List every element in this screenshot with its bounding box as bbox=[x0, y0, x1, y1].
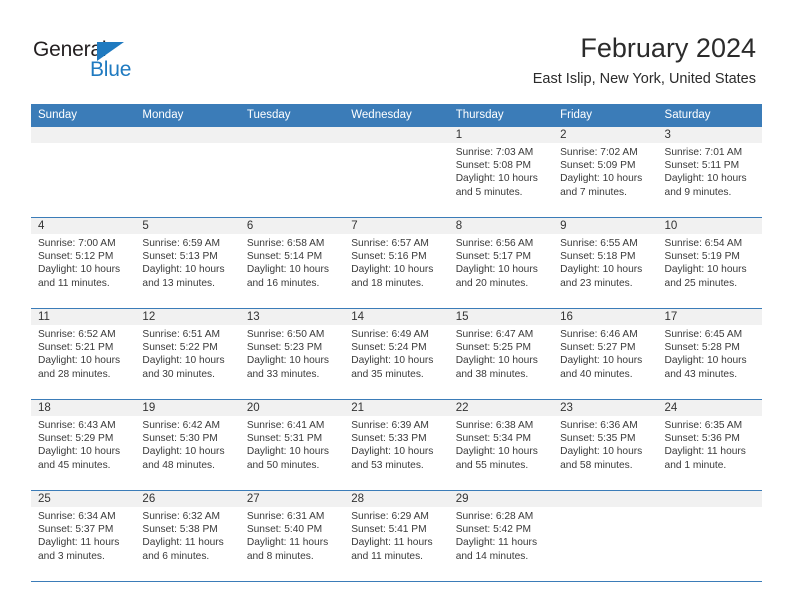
daylight-duration-line1: Daylight: 10 hours bbox=[560, 445, 651, 458]
day-cell-inner: 4Sunrise: 7:00 AMSunset: 5:12 PMDaylight… bbox=[31, 218, 135, 308]
sunrise-time: Sunrise: 6:29 AM bbox=[351, 510, 442, 523]
day-number: 1 bbox=[449, 127, 553, 143]
daylight-duration-line1: Daylight: 10 hours bbox=[247, 354, 338, 367]
day-number: 11 bbox=[31, 309, 135, 325]
day-number bbox=[553, 491, 657, 507]
sunset-time: Sunset: 5:28 PM bbox=[665, 341, 756, 354]
daylight-duration-line1: Daylight: 10 hours bbox=[351, 445, 442, 458]
daylight-duration-line2: and 6 minutes. bbox=[142, 550, 233, 563]
daylight-duration-line2: and 28 minutes. bbox=[38, 368, 129, 381]
day-cell-inner: 24Sunrise: 6:35 AMSunset: 5:36 PMDayligh… bbox=[658, 400, 762, 490]
day-cell-inner bbox=[658, 491, 762, 581]
daylight-duration-line1: Daylight: 11 hours bbox=[456, 536, 547, 549]
daylight-duration-line1: Daylight: 11 hours bbox=[247, 536, 338, 549]
sunrise-time: Sunrise: 6:36 AM bbox=[560, 419, 651, 432]
daylight-duration-line2: and 11 minutes. bbox=[351, 550, 442, 563]
calendar-week-row: 1Sunrise: 7:03 AMSunset: 5:08 PMDaylight… bbox=[31, 127, 762, 218]
calendar-day-cell[interactable]: 1Sunrise: 7:03 AMSunset: 5:08 PMDaylight… bbox=[449, 127, 553, 218]
calendar-day-cell[interactable]: 19Sunrise: 6:42 AMSunset: 5:30 PMDayligh… bbox=[135, 400, 239, 491]
day-cell-inner: 12Sunrise: 6:51 AMSunset: 5:22 PMDayligh… bbox=[135, 309, 239, 399]
daylight-duration-line2: and 35 minutes. bbox=[351, 368, 442, 381]
calendar-day-cell[interactable]: 29Sunrise: 6:28 AMSunset: 5:42 PMDayligh… bbox=[449, 491, 553, 582]
day-cell-details: Sunrise: 6:50 AMSunset: 5:23 PMDaylight:… bbox=[240, 325, 344, 381]
sunrise-time: Sunrise: 6:31 AM bbox=[247, 510, 338, 523]
day-number: 23 bbox=[553, 400, 657, 416]
day-number bbox=[240, 127, 344, 143]
day-cell-inner bbox=[31, 127, 135, 217]
calendar-cell-empty bbox=[240, 127, 344, 218]
day-cell-inner: 15Sunrise: 6:47 AMSunset: 5:25 PMDayligh… bbox=[449, 309, 553, 399]
day-cell-details: Sunrise: 6:39 AMSunset: 5:33 PMDaylight:… bbox=[344, 416, 448, 472]
day-number: 12 bbox=[135, 309, 239, 325]
day-cell-inner: 1Sunrise: 7:03 AMSunset: 5:08 PMDaylight… bbox=[449, 127, 553, 217]
title-block: February 2024 East Islip, New York, Unit… bbox=[533, 33, 756, 89]
calendar-week-row: 18Sunrise: 6:43 AMSunset: 5:29 PMDayligh… bbox=[31, 400, 762, 491]
sunrise-time: Sunrise: 6:51 AM bbox=[142, 328, 233, 341]
day-cell-details: Sunrise: 6:59 AMSunset: 5:13 PMDaylight:… bbox=[135, 234, 239, 290]
daylight-duration-line1: Daylight: 10 hours bbox=[560, 354, 651, 367]
day-cell-details: Sunrise: 7:00 AMSunset: 5:12 PMDaylight:… bbox=[31, 234, 135, 290]
calendar-day-cell[interactable]: 24Sunrise: 6:35 AMSunset: 5:36 PMDayligh… bbox=[658, 400, 762, 491]
day-cell-details: Sunrise: 6:28 AMSunset: 5:42 PMDaylight:… bbox=[449, 507, 553, 563]
day-cell-inner: 16Sunrise: 6:46 AMSunset: 5:27 PMDayligh… bbox=[553, 309, 657, 399]
calendar-day-cell[interactable]: 3Sunrise: 7:01 AMSunset: 5:11 PMDaylight… bbox=[658, 127, 762, 218]
sunset-time: Sunset: 5:17 PM bbox=[456, 250, 547, 263]
sunrise-time: Sunrise: 6:57 AM bbox=[351, 237, 442, 250]
daylight-duration-line2: and 13 minutes. bbox=[142, 277, 233, 290]
day-number: 5 bbox=[135, 218, 239, 234]
weekday-header-saturday: Saturday bbox=[658, 104, 762, 127]
daylight-duration-line2: and 30 minutes. bbox=[142, 368, 233, 381]
calendar-day-cell[interactable]: 16Sunrise: 6:46 AMSunset: 5:27 PMDayligh… bbox=[553, 309, 657, 400]
calendar-day-cell[interactable]: 5Sunrise: 6:59 AMSunset: 5:13 PMDaylight… bbox=[135, 218, 239, 309]
daylight-duration-line1: Daylight: 10 hours bbox=[351, 263, 442, 276]
day-cell-inner: 11Sunrise: 6:52 AMSunset: 5:21 PMDayligh… bbox=[31, 309, 135, 399]
day-number: 4 bbox=[31, 218, 135, 234]
day-cell-inner: 27Sunrise: 6:31 AMSunset: 5:40 PMDayligh… bbox=[240, 491, 344, 581]
day-number: 9 bbox=[553, 218, 657, 234]
sunrise-time: Sunrise: 6:34 AM bbox=[38, 510, 129, 523]
sunrise-time: Sunrise: 6:35 AM bbox=[665, 419, 756, 432]
day-number: 22 bbox=[449, 400, 553, 416]
daylight-duration-line2: and 45 minutes. bbox=[38, 459, 129, 472]
calendar-day-cell[interactable]: 7Sunrise: 6:57 AMSunset: 5:16 PMDaylight… bbox=[344, 218, 448, 309]
day-cell-details: Sunrise: 6:41 AMSunset: 5:31 PMDaylight:… bbox=[240, 416, 344, 472]
daylight-duration-line2: and 14 minutes. bbox=[456, 550, 547, 563]
day-number: 2 bbox=[553, 127, 657, 143]
daylight-duration-line1: Daylight: 10 hours bbox=[38, 445, 129, 458]
daylight-duration-line2: and 33 minutes. bbox=[247, 368, 338, 381]
day-cell-details: Sunrise: 7:01 AMSunset: 5:11 PMDaylight:… bbox=[658, 143, 762, 199]
day-cell-details: Sunrise: 6:49 AMSunset: 5:24 PMDaylight:… bbox=[344, 325, 448, 381]
day-number bbox=[31, 127, 135, 143]
daylight-duration-line1: Daylight: 10 hours bbox=[456, 263, 547, 276]
calendar-day-cell[interactable]: 18Sunrise: 6:43 AMSunset: 5:29 PMDayligh… bbox=[31, 400, 135, 491]
day-cell-inner: 22Sunrise: 6:38 AMSunset: 5:34 PMDayligh… bbox=[449, 400, 553, 490]
calendar-body: 1Sunrise: 7:03 AMSunset: 5:08 PMDaylight… bbox=[31, 127, 762, 582]
calendar-day-cell[interactable]: 22Sunrise: 6:38 AMSunset: 5:34 PMDayligh… bbox=[449, 400, 553, 491]
sunset-time: Sunset: 5:11 PM bbox=[665, 159, 756, 172]
calendar-day-cell[interactable]: 26Sunrise: 6:32 AMSunset: 5:38 PMDayligh… bbox=[135, 491, 239, 582]
calendar-day-cell[interactable]: 23Sunrise: 6:36 AMSunset: 5:35 PMDayligh… bbox=[553, 400, 657, 491]
day-cell-details: Sunrise: 6:57 AMSunset: 5:16 PMDaylight:… bbox=[344, 234, 448, 290]
daylight-duration-line1: Daylight: 10 hours bbox=[665, 354, 756, 367]
day-number bbox=[135, 127, 239, 143]
page-subtitle: East Islip, New York, United States bbox=[533, 69, 756, 89]
sunrise-time: Sunrise: 6:47 AM bbox=[456, 328, 547, 341]
weekday-header-monday: Monday bbox=[135, 104, 239, 127]
calendar-day-cell[interactable]: 8Sunrise: 6:56 AMSunset: 5:17 PMDaylight… bbox=[449, 218, 553, 309]
sunset-time: Sunset: 5:21 PM bbox=[38, 341, 129, 354]
day-cell-inner: 19Sunrise: 6:42 AMSunset: 5:30 PMDayligh… bbox=[135, 400, 239, 490]
day-number bbox=[658, 491, 762, 507]
day-cell-inner: 14Sunrise: 6:49 AMSunset: 5:24 PMDayligh… bbox=[344, 309, 448, 399]
calendar-day-cell[interactable]: 10Sunrise: 6:54 AMSunset: 5:19 PMDayligh… bbox=[658, 218, 762, 309]
daylight-duration-line1: Daylight: 10 hours bbox=[38, 354, 129, 367]
day-cell-details: Sunrise: 7:02 AMSunset: 5:09 PMDaylight:… bbox=[553, 143, 657, 199]
day-cell-inner: 3Sunrise: 7:01 AMSunset: 5:11 PMDaylight… bbox=[658, 127, 762, 217]
sunset-time: Sunset: 5:31 PM bbox=[247, 432, 338, 445]
calendar-header-row: Sunday Monday Tuesday Wednesday Thursday… bbox=[31, 104, 762, 127]
daylight-duration-line2: and 7 minutes. bbox=[560, 186, 651, 199]
calendar-week-row: 11Sunrise: 6:52 AMSunset: 5:21 PMDayligh… bbox=[31, 309, 762, 400]
sunrise-time: Sunrise: 6:54 AM bbox=[665, 237, 756, 250]
calendar-day-cell[interactable]: 21Sunrise: 6:39 AMSunset: 5:33 PMDayligh… bbox=[344, 400, 448, 491]
day-number: 14 bbox=[344, 309, 448, 325]
calendar-week-row: 4Sunrise: 7:00 AMSunset: 5:12 PMDaylight… bbox=[31, 218, 762, 309]
daylight-duration-line1: Daylight: 10 hours bbox=[560, 263, 651, 276]
day-number: 7 bbox=[344, 218, 448, 234]
daylight-duration-line2: and 9 minutes. bbox=[665, 186, 756, 199]
sunrise-time: Sunrise: 6:56 AM bbox=[456, 237, 547, 250]
sunset-time: Sunset: 5:25 PM bbox=[456, 341, 547, 354]
daylight-duration-line2: and 5 minutes. bbox=[456, 186, 547, 199]
sunset-time: Sunset: 5:37 PM bbox=[38, 523, 129, 536]
day-number: 6 bbox=[240, 218, 344, 234]
daylight-duration-line1: Daylight: 11 hours bbox=[142, 536, 233, 549]
day-cell-inner: 2Sunrise: 7:02 AMSunset: 5:09 PMDaylight… bbox=[553, 127, 657, 217]
daylight-duration-line2: and 53 minutes. bbox=[351, 459, 442, 472]
day-cell-inner: 18Sunrise: 6:43 AMSunset: 5:29 PMDayligh… bbox=[31, 400, 135, 490]
day-cell-inner: 21Sunrise: 6:39 AMSunset: 5:33 PMDayligh… bbox=[344, 400, 448, 490]
daylight-duration-line1: Daylight: 10 hours bbox=[456, 172, 547, 185]
sunrise-time: Sunrise: 6:58 AM bbox=[247, 237, 338, 250]
daylight-duration-line2: and 8 minutes. bbox=[247, 550, 338, 563]
daylight-duration-line1: Daylight: 10 hours bbox=[38, 263, 129, 276]
day-cell-details: Sunrise: 6:32 AMSunset: 5:38 PMDaylight:… bbox=[135, 507, 239, 563]
sunrise-time: Sunrise: 6:39 AM bbox=[351, 419, 442, 432]
weekday-header-wednesday: Wednesday bbox=[344, 104, 448, 127]
day-number: 20 bbox=[240, 400, 344, 416]
sunset-time: Sunset: 5:33 PM bbox=[351, 432, 442, 445]
day-cell-inner: 20Sunrise: 6:41 AMSunset: 5:31 PMDayligh… bbox=[240, 400, 344, 490]
daylight-duration-line2: and 16 minutes. bbox=[247, 277, 338, 290]
day-number: 8 bbox=[449, 218, 553, 234]
day-cell-inner: 7Sunrise: 6:57 AMSunset: 5:16 PMDaylight… bbox=[344, 218, 448, 308]
sunset-time: Sunset: 5:12 PM bbox=[38, 250, 129, 263]
daylight-duration-line2: and 50 minutes. bbox=[247, 459, 338, 472]
daylight-duration-line2: and 43 minutes. bbox=[665, 368, 756, 381]
sunset-time: Sunset: 5:16 PM bbox=[351, 250, 442, 263]
day-cell-inner: 23Sunrise: 6:36 AMSunset: 5:35 PMDayligh… bbox=[553, 400, 657, 490]
sunrise-time: Sunrise: 6:41 AM bbox=[247, 419, 338, 432]
day-number: 27 bbox=[240, 491, 344, 507]
day-cell-details: Sunrise: 6:35 AMSunset: 5:36 PMDaylight:… bbox=[658, 416, 762, 472]
day-cell-inner: 8Sunrise: 6:56 AMSunset: 5:17 PMDaylight… bbox=[449, 218, 553, 308]
sunrise-time: Sunrise: 6:46 AM bbox=[560, 328, 651, 341]
day-cell-details: Sunrise: 7:03 AMSunset: 5:08 PMDaylight:… bbox=[449, 143, 553, 199]
day-cell-details: Sunrise: 6:56 AMSunset: 5:17 PMDaylight:… bbox=[449, 234, 553, 290]
day-cell-inner: 9Sunrise: 6:55 AMSunset: 5:18 PMDaylight… bbox=[553, 218, 657, 308]
day-number: 15 bbox=[449, 309, 553, 325]
day-cell-details: Sunrise: 6:36 AMSunset: 5:35 PMDaylight:… bbox=[553, 416, 657, 472]
sunset-time: Sunset: 5:30 PM bbox=[142, 432, 233, 445]
day-cell-inner bbox=[344, 127, 448, 217]
day-cell-inner: 29Sunrise: 6:28 AMSunset: 5:42 PMDayligh… bbox=[449, 491, 553, 581]
weekday-header-tuesday: Tuesday bbox=[240, 104, 344, 127]
day-number: 24 bbox=[658, 400, 762, 416]
day-cell-details: Sunrise: 6:29 AMSunset: 5:41 PMDaylight:… bbox=[344, 507, 448, 563]
sunset-time: Sunset: 5:40 PM bbox=[247, 523, 338, 536]
sunset-time: Sunset: 5:23 PM bbox=[247, 341, 338, 354]
sunrise-time: Sunrise: 6:49 AM bbox=[351, 328, 442, 341]
sunrise-time: Sunrise: 7:03 AM bbox=[456, 146, 547, 159]
calendar-day-cell[interactable]: 2Sunrise: 7:02 AMSunset: 5:09 PMDaylight… bbox=[553, 127, 657, 218]
day-cell-details: Sunrise: 6:52 AMSunset: 5:21 PMDaylight:… bbox=[31, 325, 135, 381]
calendar-page: General Blue February 2024 East Islip, N… bbox=[0, 0, 792, 612]
sunrise-time: Sunrise: 6:28 AM bbox=[456, 510, 547, 523]
day-cell-details: Sunrise: 6:42 AMSunset: 5:30 PMDaylight:… bbox=[135, 416, 239, 472]
daylight-duration-line1: Daylight: 11 hours bbox=[38, 536, 129, 549]
sunset-time: Sunset: 5:13 PM bbox=[142, 250, 233, 263]
daylight-duration-line1: Daylight: 10 hours bbox=[247, 263, 338, 276]
day-number: 13 bbox=[240, 309, 344, 325]
sunrise-time: Sunrise: 6:52 AM bbox=[38, 328, 129, 341]
day-cell-details: Sunrise: 6:51 AMSunset: 5:22 PMDaylight:… bbox=[135, 325, 239, 381]
sunrise-time: Sunrise: 7:00 AM bbox=[38, 237, 129, 250]
daylight-duration-line1: Daylight: 11 hours bbox=[665, 445, 756, 458]
daylight-duration-line1: Daylight: 10 hours bbox=[665, 263, 756, 276]
day-cell-details: Sunrise: 6:45 AMSunset: 5:28 PMDaylight:… bbox=[658, 325, 762, 381]
brand-logo[interactable]: General Blue bbox=[33, 38, 153, 84]
sunset-time: Sunset: 5:09 PM bbox=[560, 159, 651, 172]
daylight-duration-line2: and 58 minutes. bbox=[560, 459, 651, 472]
day-cell-inner: 5Sunrise: 6:59 AMSunset: 5:13 PMDaylight… bbox=[135, 218, 239, 308]
calendar-day-cell[interactable]: 9Sunrise: 6:55 AMSunset: 5:18 PMDaylight… bbox=[553, 218, 657, 309]
calendar-cell-empty bbox=[658, 491, 762, 582]
sunset-time: Sunset: 5:27 PM bbox=[560, 341, 651, 354]
calendar-day-cell[interactable]: 15Sunrise: 6:47 AMSunset: 5:25 PMDayligh… bbox=[449, 309, 553, 400]
day-cell-inner bbox=[135, 127, 239, 217]
calendar-day-cell[interactable]: 27Sunrise: 6:31 AMSunset: 5:40 PMDayligh… bbox=[240, 491, 344, 582]
sunset-time: Sunset: 5:42 PM bbox=[456, 523, 547, 536]
sunrise-time: Sunrise: 7:01 AM bbox=[665, 146, 756, 159]
day-cell-inner: 28Sunrise: 6:29 AMSunset: 5:41 PMDayligh… bbox=[344, 491, 448, 581]
daylight-duration-line2: and 18 minutes. bbox=[351, 277, 442, 290]
day-number: 18 bbox=[31, 400, 135, 416]
weekday-header-thursday: Thursday bbox=[449, 104, 553, 127]
day-number: 21 bbox=[344, 400, 448, 416]
day-number: 28 bbox=[344, 491, 448, 507]
day-number: 16 bbox=[553, 309, 657, 325]
calendar-cell-empty bbox=[31, 127, 135, 218]
daylight-duration-line2: and 25 minutes. bbox=[665, 277, 756, 290]
sunset-time: Sunset: 5:41 PM bbox=[351, 523, 442, 536]
sunset-time: Sunset: 5:34 PM bbox=[456, 432, 547, 445]
sunset-time: Sunset: 5:36 PM bbox=[665, 432, 756, 445]
daylight-duration-line2: and 1 minute. bbox=[665, 459, 756, 472]
calendar-day-cell[interactable]: 11Sunrise: 6:52 AMSunset: 5:21 PMDayligh… bbox=[31, 309, 135, 400]
calendar-day-cell[interactable]: 28Sunrise: 6:29 AMSunset: 5:41 PMDayligh… bbox=[344, 491, 448, 582]
sunset-time: Sunset: 5:35 PM bbox=[560, 432, 651, 445]
calendar-day-cell[interactable]: 17Sunrise: 6:45 AMSunset: 5:28 PMDayligh… bbox=[658, 309, 762, 400]
day-cell-inner bbox=[553, 491, 657, 581]
day-number: 29 bbox=[449, 491, 553, 507]
daylight-duration-line1: Daylight: 10 hours bbox=[142, 263, 233, 276]
daylight-duration-line1: Daylight: 11 hours bbox=[351, 536, 442, 549]
sunrise-time: Sunrise: 6:42 AM bbox=[142, 419, 233, 432]
day-cell-details: Sunrise: 6:55 AMSunset: 5:18 PMDaylight:… bbox=[553, 234, 657, 290]
day-cell-inner: 25Sunrise: 6:34 AMSunset: 5:37 PMDayligh… bbox=[31, 491, 135, 581]
calendar-week-row: 25Sunrise: 6:34 AMSunset: 5:37 PMDayligh… bbox=[31, 491, 762, 582]
sunrise-time: Sunrise: 6:38 AM bbox=[456, 419, 547, 432]
daylight-duration-line2: and 20 minutes. bbox=[456, 277, 547, 290]
daylight-duration-line2: and 23 minutes. bbox=[560, 277, 651, 290]
sunset-time: Sunset: 5:24 PM bbox=[351, 341, 442, 354]
day-cell-inner: 26Sunrise: 6:32 AMSunset: 5:38 PMDayligh… bbox=[135, 491, 239, 581]
sunset-time: Sunset: 5:08 PM bbox=[456, 159, 547, 172]
day-cell-details: Sunrise: 6:58 AMSunset: 5:14 PMDaylight:… bbox=[240, 234, 344, 290]
weekday-header-sunday: Sunday bbox=[31, 104, 135, 127]
day-number: 3 bbox=[658, 127, 762, 143]
calendar-day-cell[interactable]: 20Sunrise: 6:41 AMSunset: 5:31 PMDayligh… bbox=[240, 400, 344, 491]
weekday-header-friday: Friday bbox=[553, 104, 657, 127]
sunrise-time: Sunrise: 6:55 AM bbox=[560, 237, 651, 250]
day-cell-inner bbox=[240, 127, 344, 217]
sunrise-time: Sunrise: 6:32 AM bbox=[142, 510, 233, 523]
calendar-day-cell[interactable]: 4Sunrise: 7:00 AMSunset: 5:12 PMDaylight… bbox=[31, 218, 135, 309]
sunset-time: Sunset: 5:19 PM bbox=[665, 250, 756, 263]
day-cell-details: Sunrise: 6:54 AMSunset: 5:19 PMDaylight:… bbox=[658, 234, 762, 290]
day-number: 19 bbox=[135, 400, 239, 416]
day-cell-details: Sunrise: 6:31 AMSunset: 5:40 PMDaylight:… bbox=[240, 507, 344, 563]
calendar-day-cell[interactable]: 13Sunrise: 6:50 AMSunset: 5:23 PMDayligh… bbox=[240, 309, 344, 400]
day-cell-details: Sunrise: 6:43 AMSunset: 5:29 PMDaylight:… bbox=[31, 416, 135, 472]
calendar-table: Sunday Monday Tuesday Wednesday Thursday… bbox=[31, 104, 762, 582]
sunset-time: Sunset: 5:22 PM bbox=[142, 341, 233, 354]
calendar-day-cell[interactable]: 14Sunrise: 6:49 AMSunset: 5:24 PMDayligh… bbox=[344, 309, 448, 400]
calendar-cell-empty bbox=[344, 127, 448, 218]
sunset-time: Sunset: 5:29 PM bbox=[38, 432, 129, 445]
daylight-duration-line1: Daylight: 10 hours bbox=[142, 354, 233, 367]
calendar-day-cell[interactable]: 6Sunrise: 6:58 AMSunset: 5:14 PMDaylight… bbox=[240, 218, 344, 309]
day-cell-details: Sunrise: 6:47 AMSunset: 5:25 PMDaylight:… bbox=[449, 325, 553, 381]
sunset-time: Sunset: 5:18 PM bbox=[560, 250, 651, 263]
day-number bbox=[344, 127, 448, 143]
day-cell-details: Sunrise: 6:46 AMSunset: 5:27 PMDaylight:… bbox=[553, 325, 657, 381]
sunset-time: Sunset: 5:38 PM bbox=[142, 523, 233, 536]
day-cell-inner: 6Sunrise: 6:58 AMSunset: 5:14 PMDaylight… bbox=[240, 218, 344, 308]
day-number: 26 bbox=[135, 491, 239, 507]
daylight-duration-line2: and 38 minutes. bbox=[456, 368, 547, 381]
calendar-cell-empty bbox=[553, 491, 657, 582]
daylight-duration-line1: Daylight: 10 hours bbox=[560, 172, 651, 185]
sunset-time: Sunset: 5:14 PM bbox=[247, 250, 338, 263]
daylight-duration-line1: Daylight: 10 hours bbox=[142, 445, 233, 458]
brand-name-blue: Blue bbox=[90, 58, 131, 82]
daylight-duration-line1: Daylight: 10 hours bbox=[351, 354, 442, 367]
daylight-duration-line1: Daylight: 10 hours bbox=[456, 354, 547, 367]
sunrise-time: Sunrise: 6:50 AM bbox=[247, 328, 338, 341]
day-number: 25 bbox=[31, 491, 135, 507]
daylight-duration-line1: Daylight: 10 hours bbox=[665, 172, 756, 185]
day-cell-details: Sunrise: 6:34 AMSunset: 5:37 PMDaylight:… bbox=[31, 507, 135, 563]
day-number: 17 bbox=[658, 309, 762, 325]
daylight-duration-line2: and 11 minutes. bbox=[38, 277, 129, 290]
calendar-day-cell[interactable]: 25Sunrise: 6:34 AMSunset: 5:37 PMDayligh… bbox=[31, 491, 135, 582]
calendar-day-cell[interactable]: 12Sunrise: 6:51 AMSunset: 5:22 PMDayligh… bbox=[135, 309, 239, 400]
day-number: 10 bbox=[658, 218, 762, 234]
day-cell-inner: 17Sunrise: 6:45 AMSunset: 5:28 PMDayligh… bbox=[658, 309, 762, 399]
daylight-duration-line2: and 55 minutes. bbox=[456, 459, 547, 472]
page-header: General Blue February 2024 East Islip, N… bbox=[0, 0, 792, 104]
page-title: February 2024 bbox=[533, 33, 756, 63]
daylight-duration-line1: Daylight: 10 hours bbox=[247, 445, 338, 458]
daylight-duration-line2: and 48 minutes. bbox=[142, 459, 233, 472]
daylight-duration-line2: and 3 minutes. bbox=[38, 550, 129, 563]
sunrise-time: Sunrise: 6:43 AM bbox=[38, 419, 129, 432]
day-cell-inner: 13Sunrise: 6:50 AMSunset: 5:23 PMDayligh… bbox=[240, 309, 344, 399]
day-cell-details: Sunrise: 6:38 AMSunset: 5:34 PMDaylight:… bbox=[449, 416, 553, 472]
sunrise-time: Sunrise: 6:59 AM bbox=[142, 237, 233, 250]
sunrise-time: Sunrise: 7:02 AM bbox=[560, 146, 651, 159]
day-cell-inner: 10Sunrise: 6:54 AMSunset: 5:19 PMDayligh… bbox=[658, 218, 762, 308]
sunrise-time: Sunrise: 6:45 AM bbox=[665, 328, 756, 341]
calendar-cell-empty bbox=[135, 127, 239, 218]
daylight-duration-line1: Daylight: 10 hours bbox=[456, 445, 547, 458]
daylight-duration-line2: and 40 minutes. bbox=[560, 368, 651, 381]
